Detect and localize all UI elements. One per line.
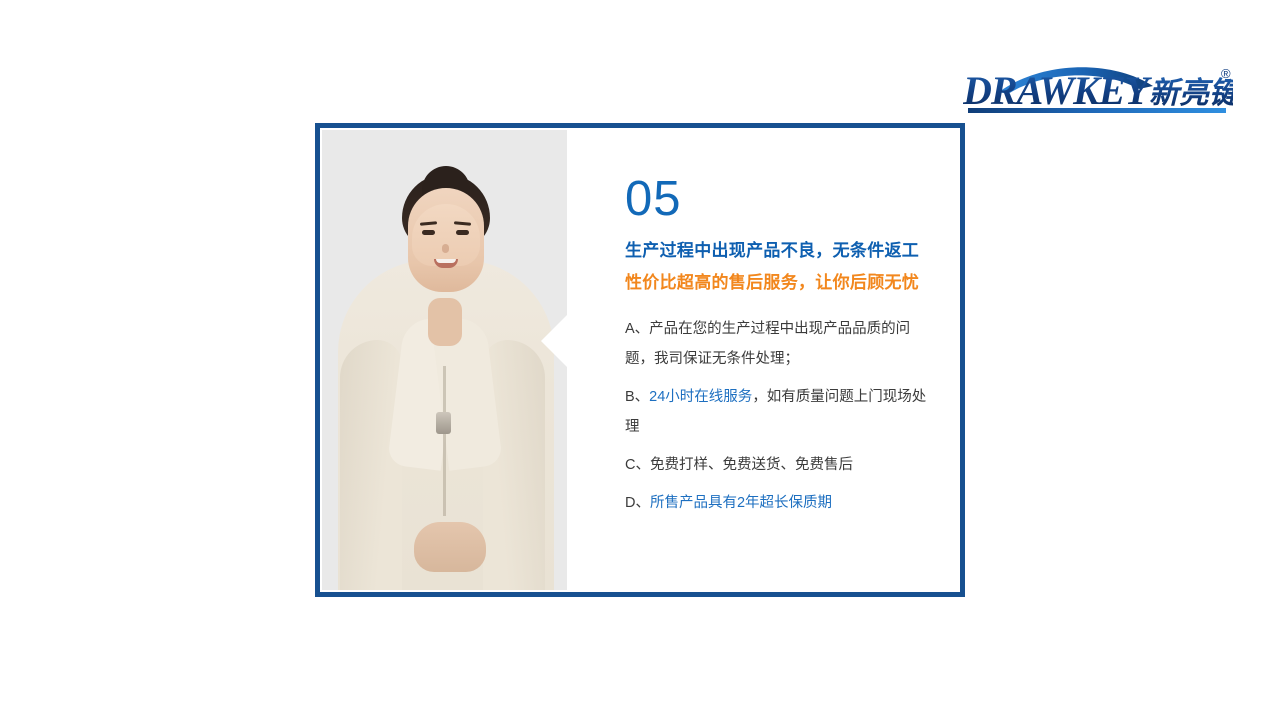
- list-item: A、产品在您的生产过程中出现产品品质的问题，我司保证无条件处理；: [625, 314, 932, 374]
- list-item-marker: A、: [625, 321, 649, 337]
- photo-jacket-seam: [443, 366, 446, 516]
- photo-hands: [414, 522, 486, 572]
- list-item-marker: D、: [625, 495, 650, 511]
- headline-primary: 生产过程中出现产品不良，无条件返工: [625, 238, 932, 264]
- list-item-text: 产品在您的生产过程中出现产品品质的问题，我司保证无条件处理；: [625, 321, 910, 367]
- list-item: B、24小时在线服务，如有质量问题上门现场处理: [625, 382, 932, 442]
- photo-face: [412, 204, 480, 266]
- list-item: D、所售产品具有2年超长保质期: [625, 488, 932, 518]
- photo-arm-left: [340, 340, 402, 590]
- portrait-photo: [322, 130, 567, 590]
- photo-neck: [428, 298, 462, 346]
- feature-card: 05 生产过程中出现产品不良，无条件返工 性价比超高的售后服务，让你后顾无忧 A…: [315, 123, 965, 597]
- logo-artwork: DRAWKEY 新亮键 ®: [963, 62, 1233, 112]
- company-logo: DRAWKEY 新亮键 ®: [963, 62, 1233, 124]
- registered-trademark-icon: ®: [1221, 66, 1231, 81]
- card-text-panel: 05 生产过程中出现产品不良，无条件返工 性价比超高的售后服务，让你后顾无忧 A…: [567, 130, 958, 590]
- section-number: 05: [625, 172, 932, 226]
- list-item-marker: C、: [625, 457, 650, 473]
- logo-chinese-text: 新亮键: [1149, 76, 1233, 111]
- photo-nose: [442, 244, 449, 253]
- logo-latin-text: DRAWKEY: [963, 68, 1153, 112]
- list-item: C、免费打样、免费送货、免费售后: [625, 450, 932, 480]
- list-item-text: 免费打样、免费送货、免费售后: [650, 457, 853, 473]
- logo-underline: [968, 108, 1226, 113]
- photo-eye-left: [422, 230, 435, 235]
- feature-list: A、产品在您的生产过程中出现产品品质的问题，我司保证无条件处理；B、24小时在线…: [625, 314, 932, 518]
- list-item-highlight: 24小时在线服务: [649, 389, 752, 405]
- list-item-marker: B、: [625, 389, 649, 405]
- list-item-highlight: 所售产品具有2年超长保质期: [650, 495, 832, 511]
- card-inner-frame: 05 生产过程中出现产品不良，无条件返工 性价比超高的售后服务，让你后顾无忧 A…: [320, 128, 960, 592]
- photo-jacket-clasp: [436, 412, 451, 434]
- photo-teeth: [436, 259, 456, 263]
- headline-secondary: 性价比超高的售后服务，让你后顾无忧: [625, 270, 932, 296]
- photo-eye-right: [456, 230, 469, 235]
